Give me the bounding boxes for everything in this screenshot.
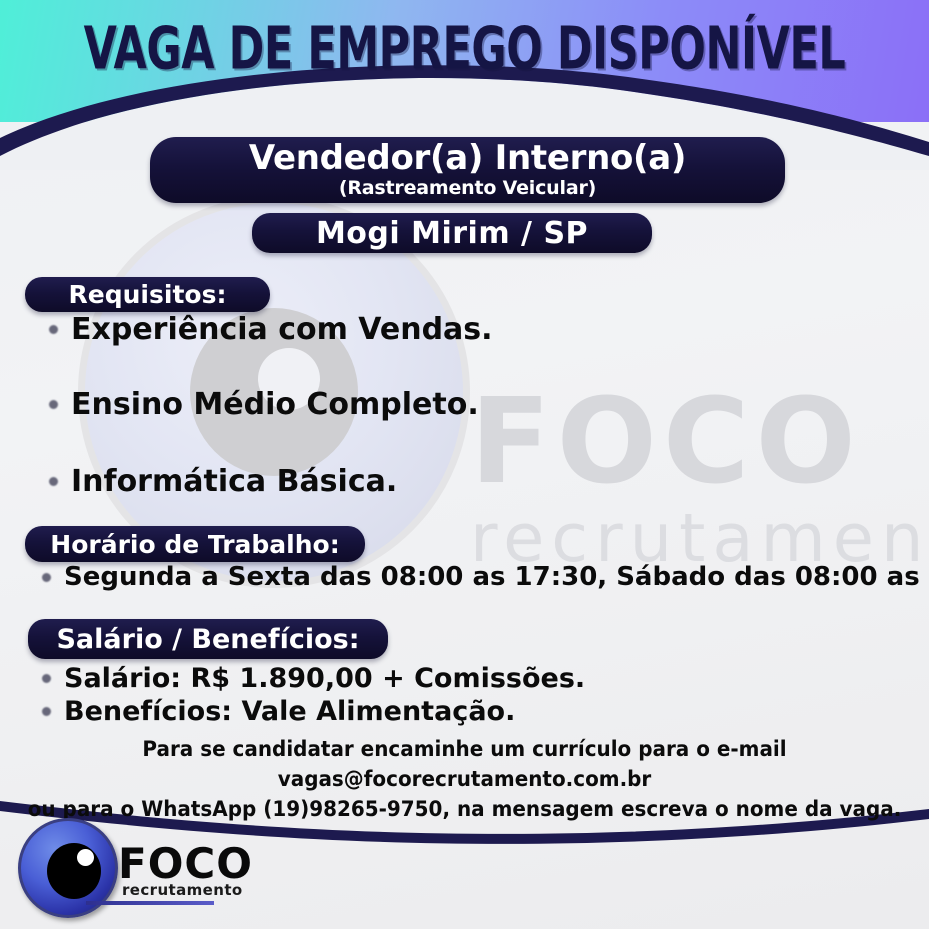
bullet-dot-icon xyxy=(49,400,58,409)
salary-label: Salário / Benefícios: xyxy=(28,619,388,659)
logo-pupil xyxy=(47,843,101,899)
requirement-item: Informática Básica. xyxy=(49,464,397,499)
job-location-pill: Mogi Mirim / SP xyxy=(252,213,652,253)
requirements-label: Requisitos: xyxy=(25,277,270,312)
salary-text: Salário: R$ 1.890,00 + Comissões. xyxy=(64,663,585,694)
salary-item: Benefícios: Vale Alimentação. xyxy=(42,696,515,727)
watermark-brand: FOCO xyxy=(470,385,862,497)
job-position: Vendedor(a) Interno(a) xyxy=(249,141,686,177)
requirement-item: Experiência com Vendas. xyxy=(49,312,493,347)
requirement-text: Informática Básica. xyxy=(71,464,397,499)
apply-line-1: Para se candidatar encaminhe um currícul… xyxy=(23,735,906,795)
page-title: VAGA DE EMPREGO DISPONÍVEL xyxy=(65,14,864,82)
schedule-text: Segunda a Sexta das 08:00 as 17:30, Sába… xyxy=(64,562,929,592)
bullet-dot-icon xyxy=(49,477,58,486)
requirement-item: Ensino Médio Completo. xyxy=(49,387,479,422)
logo-glint xyxy=(77,849,94,866)
bullet-dot-icon xyxy=(42,707,51,716)
footer: FOCO recrutamento /focorecrutamentomogig… xyxy=(0,805,929,929)
salary-text: Benefícios: Vale Alimentação. xyxy=(64,696,515,727)
logo-tagline: recrutamento xyxy=(122,883,243,898)
job-position-detail: (Rastreamento Veicular) xyxy=(339,177,596,199)
job-posting-poster: VAGA DE EMPREGO DISPONÍVEL FOCO recrutam… xyxy=(0,0,929,929)
logo-brand: FOCO xyxy=(118,843,253,885)
bullet-dot-icon xyxy=(42,674,51,683)
bullet-dot-icon xyxy=(49,325,58,334)
requirement-text: Experiência com Vendas. xyxy=(71,312,493,347)
bullet-dot-icon xyxy=(42,573,51,582)
schedule-item: Segunda a Sexta das 08:00 as 17:30, Sába… xyxy=(42,562,929,592)
schedule-label: Horário de Trabalho: xyxy=(25,526,365,562)
job-title-pill: Vendedor(a) Interno(a) (Rastreamento Vei… xyxy=(150,137,785,203)
requirement-text: Ensino Médio Completo. xyxy=(71,387,479,422)
salary-item: Salário: R$ 1.890,00 + Comissões. xyxy=(42,663,585,694)
logo-underline xyxy=(86,901,214,905)
